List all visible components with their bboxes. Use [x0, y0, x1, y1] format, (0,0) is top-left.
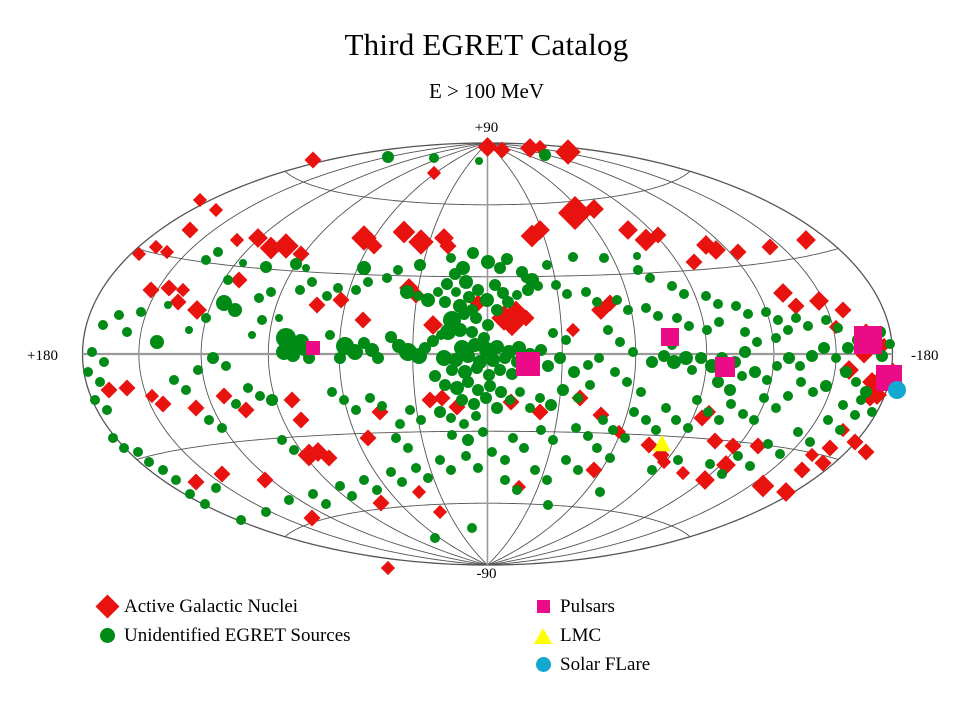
- source-marker: [730, 244, 747, 261]
- source-marker: [573, 465, 583, 475]
- source-marker: [558, 196, 592, 230]
- source-marker: [671, 415, 681, 425]
- source-marker: [686, 254, 703, 271]
- legend-diamond-icon: [92, 592, 122, 621]
- source-marker: [615, 337, 625, 347]
- source-marker: [472, 284, 484, 296]
- source-marker: [171, 475, 181, 485]
- source-marker: [803, 321, 813, 331]
- source-marker: [119, 380, 136, 397]
- source-marker: [471, 411, 481, 421]
- source-marker: [182, 222, 199, 239]
- source-marker: [363, 277, 373, 287]
- source-marker: [702, 325, 712, 335]
- source-marker: [491, 304, 503, 316]
- source-marker: [243, 383, 253, 393]
- source-marker: [773, 283, 793, 303]
- source-marker: [592, 443, 602, 453]
- source-marker: [414, 259, 426, 271]
- source-marker: [633, 265, 643, 275]
- source-marker: [743, 309, 753, 319]
- source-marker: [307, 277, 317, 287]
- source-marker: [351, 285, 361, 295]
- source-marker: [679, 351, 693, 365]
- source-marker: [393, 265, 403, 275]
- source-marker: [561, 455, 571, 465]
- source-marker: [838, 400, 848, 410]
- source-marker: [726, 399, 736, 409]
- source-marker: [598, 415, 608, 425]
- source-marker: [679, 289, 689, 299]
- source-marker: [676, 466, 690, 480]
- source-marker: [305, 152, 322, 169]
- source-marker: [542, 475, 552, 485]
- source-marker: [133, 447, 143, 457]
- source-marker: [435, 455, 445, 465]
- series-3-triangle: [653, 435, 671, 451]
- legend-right-item-2[interactable]: Solar FLare: [528, 650, 650, 679]
- source-marker: [381, 561, 395, 575]
- legend-right-column: PulsarsLMCSolar FLare: [528, 592, 650, 679]
- source-marker: [468, 398, 480, 410]
- source-marker: [333, 292, 350, 309]
- source-marker: [500, 475, 510, 485]
- source-marker: [266, 394, 278, 406]
- source-marker: [181, 385, 191, 395]
- source-marker: [216, 388, 233, 405]
- source-marker: [548, 328, 558, 338]
- source-marker: [95, 377, 105, 387]
- source-marker: [484, 380, 496, 392]
- source-marker: [304, 510, 321, 527]
- source-marker: [261, 507, 271, 517]
- source-marker: [217, 423, 227, 433]
- source-marker: [542, 260, 552, 270]
- source-marker: [622, 377, 632, 387]
- source-marker: [530, 465, 540, 475]
- source-marker: [495, 386, 507, 398]
- source-marker: [467, 247, 479, 259]
- source-marker: [446, 465, 456, 475]
- source-marker: [536, 425, 546, 435]
- source-marker: [188, 400, 205, 417]
- source-marker: [221, 361, 231, 371]
- source-marker: [490, 340, 504, 354]
- source-marker: [545, 399, 557, 411]
- source-marker: [453, 323, 467, 337]
- source-marker: [840, 366, 852, 378]
- source-marker: [478, 427, 488, 437]
- source-marker: [447, 430, 457, 440]
- source-marker: [820, 380, 832, 392]
- source-marker: [703, 407, 713, 417]
- source-marker: [254, 293, 264, 303]
- source-marker: [885, 339, 895, 349]
- legend-glyph: [537, 600, 550, 613]
- source-marker: [473, 463, 483, 473]
- source-marker: [562, 289, 572, 299]
- source-marker: [158, 465, 168, 475]
- source-marker: [193, 193, 207, 207]
- source-marker: [737, 371, 747, 381]
- source-marker: [533, 281, 543, 291]
- source-marker: [522, 284, 534, 296]
- source-marker: [223, 275, 233, 285]
- source-marker: [499, 352, 511, 364]
- source-marker: [211, 483, 221, 493]
- source-marker: [738, 409, 748, 419]
- source-marker: [583, 360, 593, 370]
- source-marker: [284, 392, 301, 409]
- source-marker: [585, 380, 595, 390]
- source-marker: [421, 293, 435, 307]
- source-marker: [365, 393, 375, 403]
- source-marker: [603, 325, 613, 335]
- sky-map-figure: Third EGRET Catalog E > 100 MeV +90 -90 …: [0, 0, 973, 717]
- source-marker: [480, 392, 492, 404]
- source-marker: [373, 495, 390, 512]
- source-marker: [355, 312, 372, 329]
- source-marker: [188, 474, 205, 491]
- source-marker: [423, 473, 433, 483]
- source-marker: [752, 337, 762, 347]
- source-marker: [542, 360, 554, 372]
- source-marker: [446, 413, 456, 423]
- source-marker: [333, 283, 343, 293]
- source-marker: [277, 435, 287, 445]
- source-marker: [439, 379, 451, 391]
- source-marker: [451, 287, 461, 297]
- source-marker: [450, 381, 464, 395]
- source-marker: [462, 434, 474, 446]
- source-marker: [382, 151, 394, 163]
- source-marker: [713, 299, 723, 309]
- source-marker: [573, 393, 583, 403]
- legend-left-item-1[interactable]: Unidentified EGRET Sources: [92, 621, 351, 650]
- source-marker: [478, 137, 498, 157]
- source-marker: [831, 353, 841, 363]
- source-marker: [535, 393, 545, 403]
- source-marker: [661, 328, 679, 346]
- source-marker: [667, 281, 677, 291]
- source-marker: [405, 405, 415, 415]
- source-marker: [461, 451, 471, 461]
- source-marker: [548, 435, 558, 445]
- source-marker: [805, 437, 815, 447]
- source-marker: [505, 395, 515, 405]
- source-marker: [90, 395, 100, 405]
- source-marker: [471, 362, 483, 374]
- source-marker: [653, 311, 663, 321]
- source-marker: [248, 331, 256, 339]
- source-marker: [439, 296, 451, 308]
- source-marker: [715, 357, 735, 377]
- source-marker: [236, 515, 246, 525]
- source-marker: [257, 315, 267, 325]
- source-marker: [359, 475, 369, 485]
- source-marker: [628, 347, 638, 357]
- source-marker: [740, 327, 750, 337]
- source-marker: [122, 327, 132, 337]
- source-marker: [231, 272, 248, 289]
- source-marker: [888, 381, 906, 399]
- source-marker: [512, 485, 522, 495]
- legend-square-icon: [528, 592, 558, 621]
- source-marker: [411, 463, 421, 473]
- legend-left-column: Active Galactic NucleiUnidentified EGRET…: [92, 592, 351, 650]
- source-marker: [102, 405, 112, 415]
- source-marker: [519, 443, 529, 453]
- source-marker: [466, 326, 478, 338]
- source-marker: [231, 399, 241, 409]
- source-marker: [566, 323, 580, 337]
- source-marker: [456, 394, 468, 406]
- source-marker: [739, 346, 751, 358]
- source-marker: [592, 297, 602, 307]
- source-marker: [145, 389, 159, 403]
- source-marker: [583, 431, 593, 441]
- source-marker: [449, 268, 461, 280]
- source-marker: [796, 230, 816, 250]
- source-marker: [185, 489, 195, 499]
- source-marker: [306, 341, 320, 355]
- source-marker: [512, 290, 522, 300]
- source-marker: [835, 302, 852, 319]
- source-marker: [610, 367, 620, 377]
- source-marker: [161, 280, 178, 297]
- source-marker: [143, 282, 160, 299]
- source-marker: [360, 430, 377, 447]
- source-marker: [805, 448, 819, 462]
- source-marker: [772, 361, 782, 371]
- source-marker: [773, 315, 783, 325]
- source-marker: [412, 485, 426, 499]
- source-marker: [391, 433, 401, 443]
- source-marker: [823, 415, 833, 425]
- series-4-circle: [888, 381, 906, 399]
- legend-right-item-0[interactable]: Pulsars: [528, 592, 650, 621]
- source-marker: [372, 352, 384, 364]
- source-marker: [284, 495, 294, 505]
- source-marker: [467, 523, 477, 533]
- source-marker: [749, 366, 761, 378]
- source-marker: [692, 395, 702, 405]
- source-marker: [416, 415, 426, 425]
- source-marker: [430, 533, 440, 543]
- source-marker: [144, 457, 154, 467]
- source-marker: [434, 406, 446, 418]
- source-marker: [775, 449, 785, 459]
- source-marker: [351, 405, 361, 415]
- source-marker: [733, 451, 743, 461]
- legend-right-item-1[interactable]: LMC: [528, 621, 650, 650]
- source-marker: [403, 443, 413, 453]
- source-marker: [759, 393, 769, 403]
- source-marker: [818, 342, 830, 354]
- source-marker: [169, 375, 179, 385]
- source-marker: [480, 293, 494, 307]
- source-marker: [809, 291, 829, 311]
- source-marker: [705, 459, 715, 469]
- source-marker: [783, 325, 793, 335]
- source-marker: [821, 315, 831, 325]
- source-marker: [459, 275, 473, 289]
- source-marker: [551, 280, 561, 290]
- source-marker: [672, 313, 682, 323]
- source-marker: [201, 255, 211, 265]
- legend-glyph: [100, 628, 115, 643]
- source-marker: [239, 259, 247, 267]
- source-marker: [266, 287, 276, 297]
- source-marker: [487, 447, 497, 457]
- legend-label: Pulsars: [558, 597, 615, 616]
- source-marker: [762, 239, 779, 256]
- source-marker: [377, 401, 387, 411]
- source-marker: [434, 390, 451, 407]
- source-marker: [483, 369, 495, 381]
- source-marker: [441, 278, 453, 290]
- source-marker: [516, 352, 540, 376]
- source-marker: [633, 252, 641, 260]
- source-marker: [309, 297, 326, 314]
- source-marker: [761, 307, 771, 317]
- source-marker: [339, 395, 349, 405]
- source-marker: [98, 320, 108, 330]
- source-marker: [555, 139, 580, 164]
- source-marker: [327, 387, 337, 397]
- source-marker: [462, 376, 474, 388]
- source-marker: [372, 485, 382, 495]
- source-marker: [714, 317, 724, 327]
- source-marker: [475, 157, 483, 165]
- source-marker: [822, 440, 839, 457]
- source-marker: [539, 149, 551, 161]
- source-marker: [684, 321, 694, 331]
- source-marker: [701, 291, 711, 301]
- source-marker: [791, 313, 801, 323]
- source-marker: [260, 261, 272, 273]
- source-marker: [433, 287, 443, 297]
- source-marker: [586, 462, 603, 479]
- source-marker: [793, 427, 803, 437]
- legend-glyph: [95, 594, 119, 618]
- source-marker: [209, 203, 223, 217]
- source-marker: [525, 403, 535, 413]
- source-marker: [382, 273, 392, 283]
- source-marker: [647, 465, 657, 475]
- source-marker: [568, 366, 580, 378]
- source-marker: [494, 364, 506, 376]
- source-marker: [854, 326, 882, 354]
- source-marker: [629, 407, 639, 417]
- source-marker: [608, 425, 618, 435]
- source-marker: [867, 407, 877, 417]
- source-marker: [335, 481, 345, 491]
- source-marker: [683, 423, 693, 433]
- source-marker: [667, 355, 681, 369]
- source-marker: [568, 252, 578, 262]
- legend-label: LMC: [558, 626, 601, 645]
- source-marker: [228, 303, 242, 317]
- source-marker: [114, 310, 124, 320]
- source-marker: [712, 376, 724, 388]
- source-marker: [322, 291, 332, 301]
- source-marker: [289, 445, 299, 455]
- source-marker: [325, 330, 335, 340]
- source-marker: [521, 273, 531, 283]
- source-marker: [806, 350, 818, 362]
- source-marker: [636, 387, 646, 397]
- source-marker: [275, 314, 283, 322]
- source-marker: [302, 264, 310, 272]
- source-marker: [717, 469, 727, 479]
- source-marker: [207, 352, 219, 364]
- source-marker: [458, 308, 470, 320]
- source-marker: [673, 455, 683, 465]
- source-marker: [400, 285, 414, 299]
- source-marker: [762, 375, 772, 385]
- source-marker: [295, 285, 305, 295]
- source-marker: [446, 364, 458, 376]
- source-marker: [515, 387, 525, 397]
- legend-triangle-icon: [528, 621, 558, 650]
- source-marker: [164, 301, 172, 309]
- legend-label: Unidentified EGRET Sources: [122, 626, 351, 645]
- legend-left-item-0[interactable]: Active Galactic Nuclei: [92, 592, 351, 621]
- source-marker: [620, 433, 630, 443]
- source-marker: [623, 305, 633, 315]
- source-marker: [433, 505, 447, 519]
- source-marker: [230, 233, 244, 247]
- source-marker: [661, 403, 671, 413]
- source-marker: [771, 333, 781, 343]
- source-marker: [461, 349, 475, 363]
- legend-label: Active Galactic Nuclei: [122, 597, 298, 616]
- source-marker: [731, 301, 741, 311]
- source-marker: [595, 487, 605, 497]
- source-marker: [500, 455, 510, 465]
- source-marker: [594, 353, 604, 363]
- source-marker: [850, 410, 860, 420]
- source-marker: [481, 255, 495, 269]
- legend-circle-icon: [92, 621, 122, 650]
- source-marker: [491, 402, 503, 414]
- source-marker: [581, 287, 591, 297]
- source-marker: [459, 419, 469, 429]
- source-marker: [293, 412, 310, 429]
- source-marker: [605, 453, 615, 463]
- source-marker: [752, 475, 775, 498]
- source-marker: [745, 461, 755, 471]
- source-marker: [155, 396, 172, 413]
- source-marker: [645, 273, 655, 283]
- source-marker: [788, 298, 805, 315]
- source-marker: [200, 499, 210, 509]
- source-marker: [599, 253, 609, 263]
- source-marker: [808, 387, 818, 397]
- legend-circle-icon: [528, 650, 558, 679]
- source-marker: [213, 247, 223, 257]
- source-marker: [835, 425, 845, 435]
- source-marker: [87, 347, 97, 357]
- source-marker: [99, 357, 109, 367]
- source-marker: [856, 395, 866, 405]
- source-marker: [429, 153, 439, 163]
- source-marker: [794, 462, 811, 479]
- source-marker: [641, 415, 651, 425]
- source-marker: [193, 365, 203, 375]
- source-marker: [687, 365, 697, 375]
